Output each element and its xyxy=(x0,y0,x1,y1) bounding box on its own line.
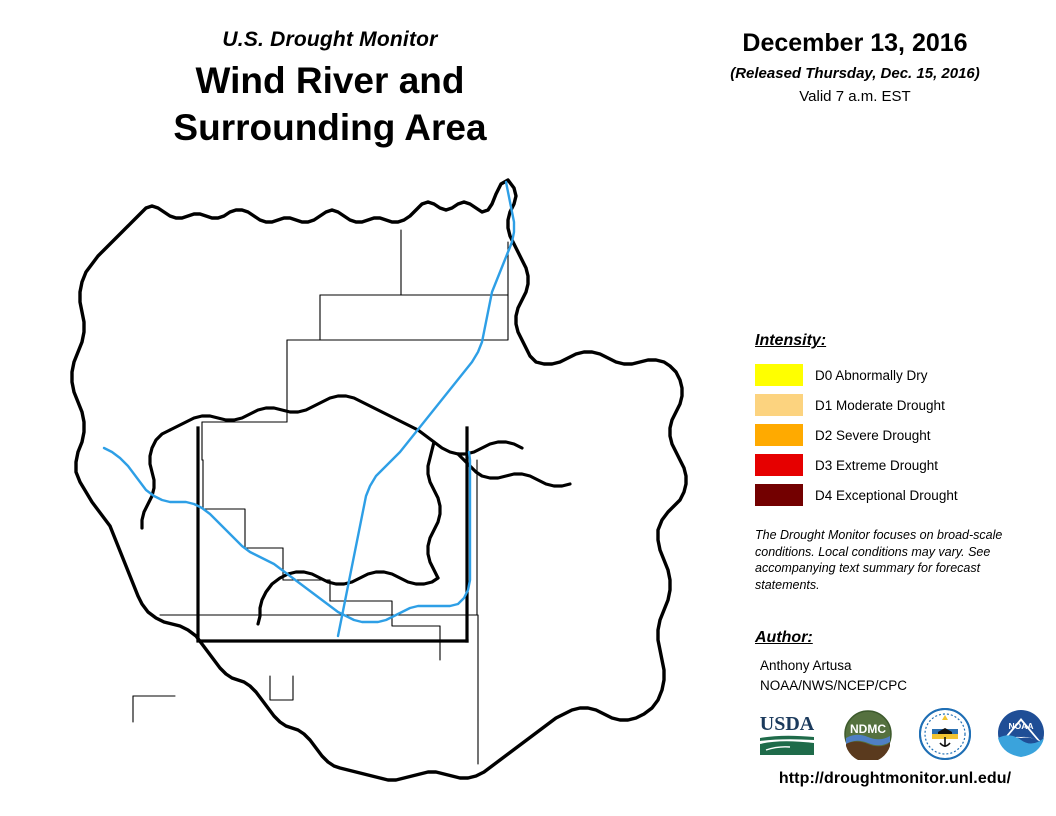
legend-swatch-d2 xyxy=(755,424,803,446)
author-block: Author: Anthony Artusa NOAA/NWS/NCEP/CPC xyxy=(755,629,1035,695)
author-organization: NOAA/NWS/NCEP/CPC xyxy=(755,676,1035,696)
legend-item-d3[interactable]: D3 Extreme Drought xyxy=(755,450,1045,480)
author-title: Author: xyxy=(755,629,1035,647)
usda-logo[interactable]: USDA xyxy=(756,710,818,758)
area-boundary xyxy=(72,180,686,780)
legend-label-d0: D0 Abnormally Dry xyxy=(815,368,928,383)
page-title-line2: Surrounding Area xyxy=(0,104,660,151)
svg-text:USDA: USDA xyxy=(760,713,815,735)
legend-label-d4: D4 Exceptional Drought xyxy=(815,488,958,503)
release-date: (Released Thursday, Dec. 15, 2016) xyxy=(690,66,1020,83)
legend-label-d1: D1 Moderate Drought xyxy=(815,398,945,413)
drought-map[interactable] xyxy=(40,160,740,800)
noaa-logo[interactable]: NOAA xyxy=(996,708,1046,760)
logo-row: USDA NDMC NOAA xyxy=(756,703,1046,765)
legend-item-d0[interactable]: D0 Abnormally Dry xyxy=(755,360,1045,390)
valid-time: Valid 7 a.m. EST xyxy=(690,89,1020,106)
legend-swatch-d4 xyxy=(755,484,803,506)
intensity-legend: Intensity: D0 Abnormally Dry D1 Moderate… xyxy=(755,332,1045,510)
legend-swatch-d0 xyxy=(755,364,803,386)
drought-monitor-url[interactable]: http://droughtmonitor.unl.edu/ xyxy=(740,770,1050,788)
author-name: Anthony Artusa xyxy=(755,656,1035,676)
legend-swatch-d1 xyxy=(755,394,803,416)
title-block: U.S. Drought Monitor Wind River and Surr… xyxy=(0,28,660,152)
date-block: December 13, 2016 (Released Thursday, De… xyxy=(690,30,1020,106)
legend-item-d2[interactable]: D2 Severe Drought xyxy=(755,420,1045,450)
legend-label-d3: D3 Extreme Drought xyxy=(815,458,938,473)
svg-text:NOAA: NOAA xyxy=(1008,721,1033,731)
page-title: Wind River and Surrounding Area xyxy=(0,57,660,152)
legend-swatch-d3 xyxy=(755,454,803,476)
legend-title: Intensity: xyxy=(755,332,1045,350)
valid-date: December 13, 2016 xyxy=(690,30,1020,58)
legend-item-d1[interactable]: D1 Moderate Drought xyxy=(755,390,1045,420)
legend-label-d2: D2 Severe Drought xyxy=(815,428,931,443)
page-title-line1: Wind River and xyxy=(0,57,660,104)
disclaimer-text: The Drought Monitor focuses on broad-sca… xyxy=(755,527,1017,594)
program-label: U.S. Drought Monitor xyxy=(0,28,660,51)
legend-item-d4[interactable]: D4 Exceptional Drought xyxy=(755,480,1045,510)
svg-text:NDMC: NDMC xyxy=(850,722,886,736)
usdc-seal-logo[interactable] xyxy=(918,707,972,761)
ndmc-logo[interactable]: NDMC xyxy=(842,708,894,760)
county-lines xyxy=(133,230,508,764)
